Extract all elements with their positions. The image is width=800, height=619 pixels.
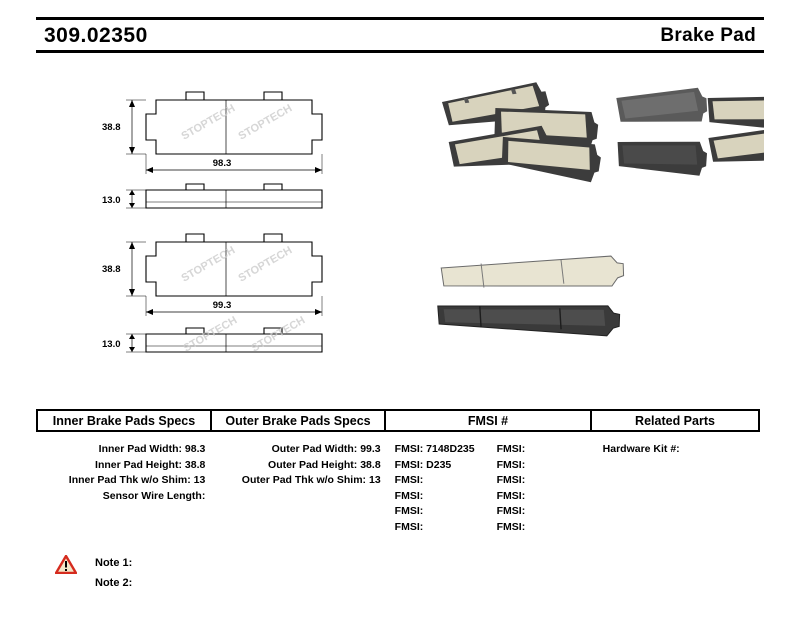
header-fmsi: FMSI # <box>384 409 592 432</box>
inner-pad-front-view: 38.8 98.3 <box>102 92 322 174</box>
outer-spec-line: Outer Pad Thk w/o Shim: 13 <box>211 473 386 489</box>
spec-table-header-row: Inner Brake Pads Specs Outer Brake Pads … <box>36 409 764 432</box>
inner-spec-line: Sensor Wire Length: <box>36 489 211 505</box>
fmsi-left: FMSI: <box>387 473 497 489</box>
outer-specs-column: Outer Pad Width: 99.3 Outer Pad Height: … <box>211 442 386 535</box>
outer-pad-width-dim: 99.3 <box>213 300 232 311</box>
drawing-area: STOPTECH 38.8 <box>36 62 764 392</box>
fmsi-left: FMSI: <box>387 520 497 536</box>
inner-pad-width-dim: 98.3 <box>213 158 232 169</box>
product-type: Brake Pad <box>660 25 756 47</box>
fmsi-right: FMSI: <box>497 489 595 505</box>
inner-specs-column: Inner Pad Width: 98.3 Inner Pad Height: … <box>36 442 211 535</box>
fmsi-left: FMSI: <box>387 489 497 505</box>
header-related-parts: Related Parts <box>590 409 760 432</box>
note-2: Note 2: <box>55 573 355 593</box>
outer-pad-height-dim: 38.8 <box>102 264 121 275</box>
fmsi-row: FMSI: FMSI: <box>387 489 595 505</box>
inner-spec-line: Inner Pad Thk w/o Shim: 13 <box>36 473 211 489</box>
document-sheet: 309.02350 Brake Pad STOPTECH <box>0 0 800 619</box>
outer-pad-front-view: 38.8 99.3 <box>102 234 322 316</box>
warning-triangle-icon <box>55 555 77 574</box>
document-header: 309.02350 Brake Pad <box>36 17 764 53</box>
inner-spec-line: Inner Pad Height: 38.8 <box>36 458 211 474</box>
fmsi-row: FMSI: FMSI: <box>387 473 595 489</box>
pad-photo-group-shims <box>437 256 624 337</box>
inner-spec-line: Inner Pad Width: 98.3 <box>36 442 211 458</box>
inner-pad-side-view: 13.0 <box>102 184 322 208</box>
outer-spec-line: Outer Pad Width: 99.3 <box>211 442 386 458</box>
fmsi-right: FMSI: <box>497 504 595 520</box>
product-photos <box>396 62 764 392</box>
technical-drawings: STOPTECH 38.8 <box>36 62 416 392</box>
inner-pad-height-dim: 38.8 <box>102 122 121 133</box>
fmsi-left: FMSI: 7148D235 <box>387 442 497 458</box>
fmsi-row: FMSI: 7148D235 FMSI: <box>387 442 595 458</box>
header-outer-specs: Outer Brake Pads Specs <box>210 409 386 432</box>
fmsi-right: FMSI: <box>497 520 595 536</box>
note-1: Note 1: <box>55 553 355 573</box>
fmsi-left: FMSI: <box>387 504 497 520</box>
fmsi-row: FMSI: FMSI: <box>387 520 595 536</box>
notes-section: Note 1: Note 2: <box>55 553 355 593</box>
related-parts-column: Hardware Kit #: <box>595 442 764 535</box>
fmsi-row: FMSI: FMSI: <box>387 504 595 520</box>
header-inner-specs: Inner Brake Pads Specs <box>36 409 212 432</box>
fmsi-right: FMSI: <box>497 458 595 474</box>
outer-pad-thickness-dim: 13.0 <box>102 339 121 350</box>
pad-photo-group-back <box>616 87 764 176</box>
spec-table-body-row: Inner Pad Width: 98.3 Inner Pad Height: … <box>36 442 764 535</box>
spec-table: Inner Brake Pads Specs Outer Brake Pads … <box>36 409 764 535</box>
outer-spec-line: Outer Pad Height: 38.8 <box>211 458 386 474</box>
fmsi-left: FMSI: D235 <box>387 458 497 474</box>
fmsi-row: FMSI: D235 FMSI: <box>387 458 595 474</box>
inner-pad-thickness-dim: 13.0 <box>102 195 121 206</box>
fmsi-right: FMSI: <box>497 473 595 489</box>
part-number: 309.02350 <box>44 24 148 48</box>
outer-pad-side-view: 13.0 <box>102 314 322 354</box>
related-part-line: Hardware Kit #: <box>595 442 764 458</box>
fmsi-right: FMSI: <box>497 442 595 458</box>
pad-photo-group-front <box>441 81 603 183</box>
fmsi-column: FMSI: 7148D235 FMSI: FMSI: D235 FMSI: FM… <box>387 442 595 535</box>
